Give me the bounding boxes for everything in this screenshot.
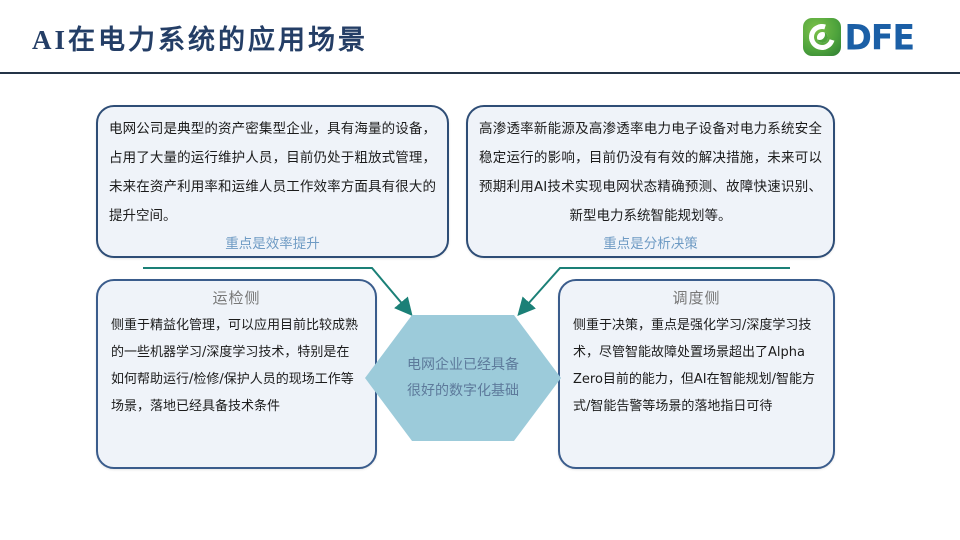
card-renewable-penetration[interactable]: 高渗透率新能源及高渗透率电力电子设备对电力系统安全稳定运行的影响，目前仍没有有效… (466, 105, 835, 258)
brand-logo-text: DFE (845, 20, 914, 55)
card-asset-intensive-accent: 重点是效率提升 (98, 231, 447, 257)
card-asset-intensive-body: 电网公司是典型的资产密集型企业，具有海量的设备，占用了大量的运行维护人员，目前仍… (98, 107, 447, 231)
green-e-logo-mark-icon (803, 18, 841, 56)
card-operation-inspection-body: 侧重于精益化管理，可以应用目前比较成熟的一些机器学习/深度学习技术，特别是在如何… (98, 308, 375, 420)
brand-logo: DFE (803, 18, 914, 56)
diagram-canvas: 电网公司是典型的资产密集型企业，具有海量的设备，占用了大量的运行维护人员，目前仍… (0, 74, 960, 540)
card-renewable-penetration-accent: 重点是分析决策 (468, 231, 833, 257)
card-asset-intensive[interactable]: 电网公司是典型的资产密集型企业，具有海量的设备，占用了大量的运行维护人员，目前仍… (96, 105, 449, 258)
page-title: AI在电力系统的应用场景 (32, 18, 368, 57)
slide-header: AI在电力系统的应用场景 DFE (0, 0, 960, 74)
hexagon-digital-foundation[interactable]: 电网企业已经具备很好的数字化基础 (365, 315, 561, 441)
card-dispatch[interactable]: 调度侧 侧重于决策，重点是强化学习/深度学习技术，尽管智能故障处置场景超出了Al… (558, 279, 835, 469)
card-renewable-penetration-body: 高渗透率新能源及高渗透率电力电子设备对电力系统安全稳定运行的影响，目前仍没有有效… (468, 107, 833, 231)
card-dispatch-heading: 调度侧 (560, 281, 833, 308)
card-operation-inspection[interactable]: 运检侧 侧重于精益化管理，可以应用目前比较成熟的一些机器学习/深度学习技术，特别… (96, 279, 377, 469)
card-dispatch-body: 侧重于决策，重点是强化学习/深度学习技术，尽管智能故障处置场景超出了Alpha … (560, 308, 833, 420)
card-operation-inspection-heading: 运检侧 (98, 281, 375, 308)
hexagon-digital-foundation-label: 电网企业已经具备很好的数字化基础 (401, 352, 525, 404)
